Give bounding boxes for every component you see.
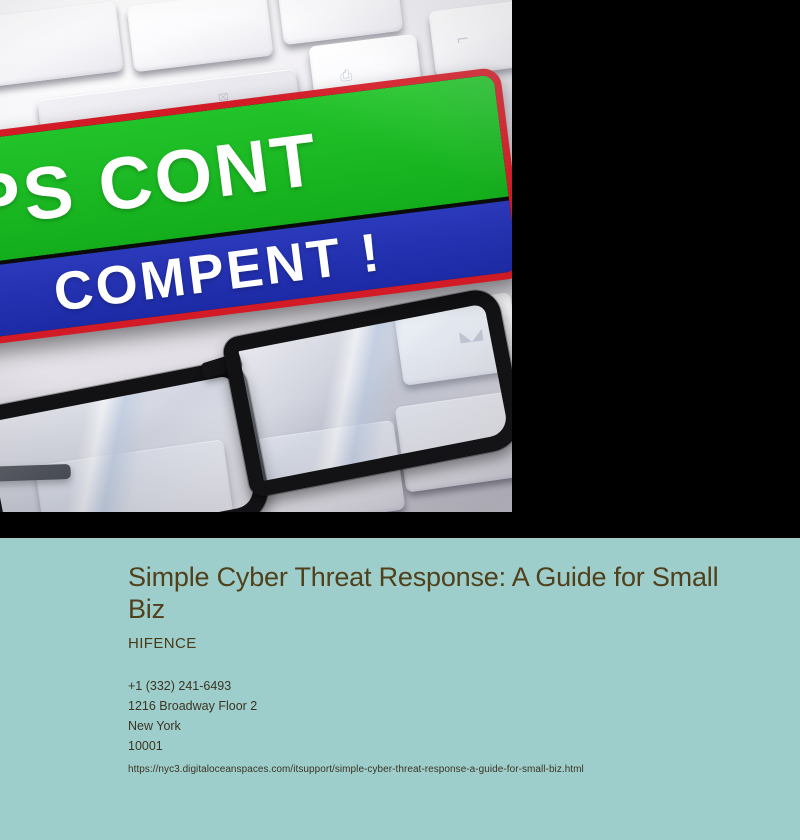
contact-postal-code: 10001: [128, 736, 740, 756]
lens-glint: [0, 375, 256, 512]
source-url[interactable]: https://nyc3.digitaloceanspaces.com/itsu…: [128, 764, 740, 775]
contact-block: +1 (332) 241-6493 1216 Broadway Floor 2 …: [128, 676, 740, 757]
article-info-panel: Simple Cyber Threat Response: A Guide fo…: [0, 538, 800, 840]
panel-inner: Simple Cyber Threat Response: A Guide fo…: [0, 538, 800, 775]
key-glyph-icon: ⎙: [339, 66, 353, 85]
brand-name: HIFENCE: [128, 635, 740, 652]
page-title: Simple Cyber Threat Response: A Guide fo…: [128, 562, 728, 626]
contact-phone: +1 (332) 241-6493: [128, 676, 740, 696]
page-root: ⌐ ⌧ ⌸ ⎙ ◣◢ UP: [0, 0, 800, 840]
hero-photo: ⌐ ⌧ ⌸ ⎙ ◣◢ UP: [0, 0, 512, 512]
lens-glint: [239, 304, 510, 481]
key-glyph-icon: ⌐: [455, 29, 471, 49]
contact-city: New York: [128, 716, 740, 736]
keycap: ⌐: [428, 1, 512, 77]
contact-address: 1216 Broadway Floor 2: [128, 696, 740, 716]
